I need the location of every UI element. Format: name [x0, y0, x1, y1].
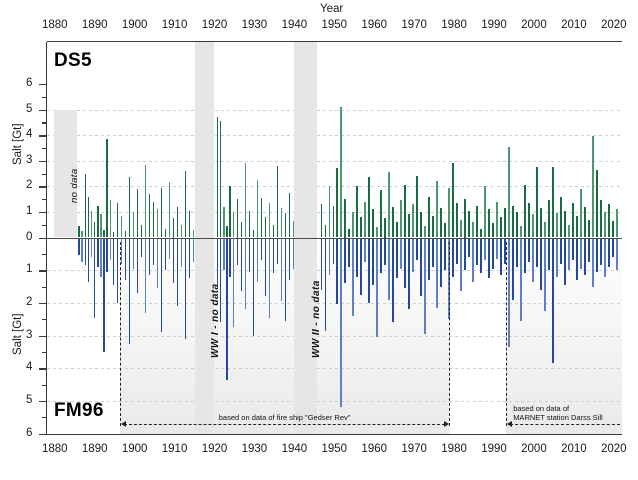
bar-inflow [504, 208, 506, 237]
annotation-text-gedser: based on data of fire ship "Gedser Rev" [219, 413, 351, 422]
bar-outflow [592, 238, 594, 287]
bar-inflow [500, 217, 502, 237]
bar-outflow [584, 238, 586, 276]
bar-inflow [568, 225, 570, 238]
bar-inflow [484, 186, 486, 237]
bar-outflow [281, 238, 283, 302]
bar-inflow [285, 213, 287, 237]
bar-inflow [94, 222, 96, 237]
y-tick-label: 4 [26, 361, 32, 373]
top-axis-title: Year [320, 3, 343, 15]
bar-inflow [91, 211, 93, 238]
annotation-line-2: MARNET station Darss Sill [513, 413, 602, 422]
bar-outflow [568, 238, 570, 271]
bar-outflow [78, 238, 80, 256]
bar-outflow [97, 238, 99, 267]
bar-outflow [560, 238, 562, 264]
bar-outflow [404, 238, 406, 289]
panel-label-ds5: DS5 [54, 50, 92, 72]
y-tick-label: 1 [26, 263, 32, 275]
bar-inflow [480, 229, 482, 238]
x-tick-label-bottom: 2010 [561, 443, 587, 455]
bar-outflow [536, 238, 538, 267]
bar-outflow [540, 238, 542, 290]
bar-inflow [452, 163, 454, 237]
x-tick-label-top: 1890 [82, 19, 108, 31]
gridline-lower [47, 401, 622, 402]
x-tick-label-bottom: 1930 [242, 443, 268, 455]
bar-inflow [329, 186, 331, 237]
bar-inflow [368, 177, 370, 237]
bar-inflow [145, 165, 147, 238]
bar-inflow [226, 226, 228, 238]
bar-inflow [245, 163, 247, 237]
bar-inflow [544, 222, 546, 237]
bar-outflow [552, 238, 554, 364]
bar-inflow [133, 212, 135, 238]
annotation-guide [120, 242, 121, 426]
gridline-upper [47, 110, 622, 111]
bar-outflow [333, 238, 335, 264]
bar-outflow [289, 238, 291, 280]
bar-inflow [185, 171, 187, 238]
chart-root: Year 18801890190019101920193019401950196… [0, 0, 638, 480]
annotation-arrow-line [510, 424, 620, 425]
gridline-lower [47, 303, 622, 304]
bar-outflow [468, 238, 470, 258]
y-tick-label: 2 [26, 179, 32, 191]
bar-outflow [364, 238, 366, 263]
bar-outflow [88, 238, 90, 282]
bar-outflow [226, 238, 228, 380]
bar-inflow [540, 208, 542, 237]
bar-inflow [153, 202, 155, 238]
bar-outflow [380, 238, 382, 274]
bar-inflow [580, 189, 582, 238]
bar-outflow [257, 238, 259, 282]
bar-inflow [161, 188, 163, 238]
bar-outflow [440, 238, 442, 287]
bar-outflow [492, 238, 494, 269]
bar-outflow [117, 238, 119, 303]
bar-outflow [600, 238, 602, 266]
bar-outflow [217, 238, 219, 287]
y-tick-label: 0 [26, 231, 32, 243]
bar-inflow [181, 225, 183, 238]
bar-outflow [133, 238, 135, 269]
bar-outflow [576, 238, 578, 280]
x-tick-label-top: 1950 [321, 19, 347, 31]
bar-inflow [233, 212, 235, 238]
bar-inflow [432, 216, 434, 238]
bar-outflow [129, 238, 131, 344]
bar-outflow [444, 238, 446, 271]
bar-outflow [496, 238, 498, 259]
bar-inflow [420, 212, 422, 238]
bar-outflow [106, 238, 108, 272]
bar-outflow [193, 238, 195, 263]
annotation-arrow-left [121, 421, 126, 427]
bar-outflow [273, 238, 275, 274]
bar-inflow [400, 200, 402, 237]
bar-outflow [416, 238, 418, 261]
bar-inflow [576, 216, 578, 238]
x-tick-label-bottom: 1950 [321, 443, 347, 455]
bar-outflow [161, 238, 163, 333]
annotation-arrow-line [124, 424, 445, 425]
x-tick-label-top: 1880 [42, 19, 68, 31]
bar-outflow [141, 238, 143, 258]
bar-outflow [110, 238, 112, 261]
bar-outflow [464, 238, 466, 271]
bar-outflow [520, 238, 522, 321]
bar-outflow [125, 238, 127, 280]
bar-outflow [516, 238, 518, 267]
zero-line [47, 238, 622, 239]
bar-inflow [384, 218, 386, 237]
bar-inflow [129, 177, 131, 237]
x-tick-label-top: 1940 [282, 19, 308, 31]
bar-outflow [157, 238, 159, 289]
x-tick-label-bottom: 1900 [122, 443, 148, 455]
bar-outflow [412, 238, 414, 272]
bar-inflow [444, 223, 446, 237]
bar-inflow [277, 166, 279, 238]
bar-outflow [400, 238, 402, 269]
x-tick-label-top: 1990 [481, 19, 507, 31]
bar-inflow [596, 170, 598, 238]
bar-inflow [217, 117, 219, 237]
bar-outflow [544, 238, 546, 312]
bar-outflow [396, 238, 398, 279]
bar-inflow [100, 214, 102, 237]
bar-outflow [277, 238, 279, 264]
y-tick-label: 5 [26, 103, 32, 115]
bar-inflow [137, 189, 139, 238]
bar-inflow [229, 186, 231, 237]
bar-inflow [472, 222, 474, 237]
bar-inflow [468, 211, 470, 238]
bar-inflow [333, 206, 335, 238]
y-tick-label: 6 [26, 77, 32, 89]
bar-inflow [376, 227, 378, 237]
bar-inflow [416, 176, 418, 237]
bar-inflow [269, 203, 271, 238]
gridline-lower [47, 270, 622, 271]
bar-outflow [580, 238, 582, 269]
annotation-guide [449, 242, 450, 426]
bar-outflow [452, 238, 454, 277]
x-tick-label-bottom: 1880 [42, 443, 68, 455]
x-tick-label-top: 2000 [521, 19, 547, 31]
bar-outflow [169, 238, 171, 259]
no-data-band-label: no data [69, 168, 80, 203]
bar-inflow [110, 200, 112, 237]
x-tick-label-top: 1960 [361, 19, 387, 31]
bar-inflow [588, 220, 590, 238]
bar-outflow [149, 238, 151, 276]
bar-inflow [592, 136, 594, 237]
bar-inflow [604, 212, 606, 238]
y-tick-label: 3 [26, 329, 32, 341]
bar-inflow [193, 230, 195, 238]
y-axis-title-lower: Salt [Gt] [12, 313, 24, 355]
bar-inflow [372, 209, 374, 237]
bar-inflow [169, 182, 171, 237]
bar-outflow [556, 238, 558, 277]
bar-inflow [360, 217, 362, 237]
bar-inflow [261, 198, 263, 238]
y-tick-label: 2 [26, 296, 32, 308]
plot-area: no dataWW I - no dataWW II - no data bas… [47, 42, 622, 434]
bar-inflow [464, 199, 466, 237]
bar-outflow [325, 238, 327, 331]
bar-inflow [436, 181, 438, 237]
y-tick-label: 1 [26, 205, 32, 217]
bar-inflow [488, 209, 490, 237]
bar-inflow [220, 121, 222, 237]
bar-inflow [157, 209, 159, 237]
x-tick-label-top: 1930 [242, 19, 268, 31]
bar-outflow [241, 238, 243, 292]
bar-inflow [177, 207, 179, 238]
bar-inflow [476, 206, 478, 238]
annotation-line-1: based on data of [513, 404, 602, 413]
bar-inflow [404, 185, 406, 237]
bar-inflow [321, 204, 323, 237]
x-tick-label-bottom: 1960 [361, 443, 387, 455]
bar-inflow [223, 207, 225, 238]
x-tick-label-bottom: 2000 [521, 443, 547, 455]
bar-inflow [340, 107, 342, 237]
bar-outflow [612, 238, 614, 258]
bar-outflow [372, 238, 374, 285]
bar-outflow [94, 238, 96, 318]
bar-outflow [596, 238, 598, 272]
bar-inflow [572, 203, 574, 238]
bar-outflow [524, 238, 526, 274]
bar-inflow [117, 203, 119, 238]
x-tick-label-top: 2010 [561, 19, 587, 31]
bar-inflow [88, 197, 90, 238]
bar-outflow [220, 238, 222, 323]
bar-outflow [321, 238, 323, 290]
bar-outflow [249, 238, 251, 272]
bar-outflow [165, 238, 167, 271]
x-tick-label-bottom: 1970 [401, 443, 427, 455]
bar-inflow [424, 226, 426, 238]
x-tick-label-bottom: 1980 [441, 443, 467, 455]
bar-inflow [165, 229, 167, 238]
bar-inflow [456, 203, 458, 238]
bar-inflow [149, 194, 151, 237]
bar-outflow [340, 238, 342, 408]
bar-outflow [616, 238, 618, 271]
bar-inflow [97, 206, 99, 238]
bar-outflow [408, 238, 410, 310]
bar-inflow [364, 202, 366, 238]
bar-inflow [428, 197, 430, 238]
bar-outflow [181, 238, 183, 267]
bar-outflow [348, 238, 350, 267]
bar-outflow [456, 238, 458, 264]
bar-outflow [344, 238, 346, 284]
bar-inflow [520, 226, 522, 238]
bar-inflow [237, 199, 239, 237]
bar-inflow [265, 217, 267, 237]
bar-inflow [516, 212, 518, 238]
bar-outflow [424, 238, 426, 334]
x-tick-label-bottom: 2020 [601, 443, 627, 455]
bar-outflow [360, 238, 362, 295]
bar-outflow [368, 238, 370, 303]
bar-inflow [560, 197, 562, 238]
x-tick-label-top: 1910 [162, 19, 188, 31]
bar-inflow [396, 222, 398, 237]
bar-outflow [173, 238, 175, 284]
bar-inflow [608, 204, 610, 237]
bar-inflow [392, 207, 394, 238]
bar-outflow [153, 238, 155, 266]
bar-outflow [265, 238, 267, 297]
bar-inflow [103, 230, 105, 238]
bar-inflow [325, 225, 327, 238]
bar-inflow [348, 229, 350, 238]
bar-inflow [612, 221, 614, 238]
bar-outflow [484, 238, 486, 261]
x-tick-label-bottom: 1990 [481, 443, 507, 455]
annotation-arrow-left [507, 421, 512, 427]
bar-outflow [261, 238, 263, 261]
y-axis-title-upper: Salt [Gt] [12, 123, 24, 165]
bar-outflow [253, 238, 255, 336]
x-tick-label-bottom: 1940 [282, 443, 308, 455]
bar-outflow [376, 238, 378, 338]
bar-outflow [548, 238, 550, 271]
bar-outflow [137, 238, 139, 294]
bar-outflow [432, 238, 434, 267]
bar-inflow [241, 222, 243, 237]
bar-outflow [384, 238, 386, 266]
bar-outflow [480, 238, 482, 274]
bar-outflow [420, 238, 422, 297]
panel-label-fm96: FM96 [54, 400, 104, 422]
bar-outflow [285, 238, 287, 321]
bar-inflow [141, 225, 143, 238]
bar-outflow [588, 238, 590, 263]
bar-outflow [528, 238, 530, 263]
x-tick-label-bottom: 1920 [202, 443, 228, 455]
bar-inflow [532, 214, 534, 237]
x-tick-label-top: 2020 [601, 19, 627, 31]
bar-inflow [408, 214, 410, 237]
gridline-lower [47, 368, 622, 369]
bar-inflow [352, 212, 354, 238]
bar-outflow [508, 238, 510, 347]
bar-outflow [356, 238, 358, 277]
annotation-text-marnet: based on data ofMARNET station Darss Sil… [513, 404, 602, 422]
y-tick-label: 5 [26, 394, 32, 406]
bar-outflow [245, 238, 247, 310]
bar-inflow [388, 172, 390, 237]
bar-inflow [412, 204, 414, 237]
bar-outflow [388, 238, 390, 300]
bar-inflow [85, 174, 87, 238]
bar-outflow [229, 238, 231, 277]
bar-inflow [616, 209, 618, 237]
bar-outflow [177, 238, 179, 307]
bar-inflow [448, 188, 450, 238]
bar-outflow [460, 238, 462, 292]
bar-inflow [336, 168, 338, 237]
bar-inflow [78, 226, 80, 238]
bar-inflow [189, 211, 191, 238]
bar-outflow [81, 238, 83, 263]
gridline-lower [47, 336, 622, 337]
bar-inflow [121, 216, 123, 238]
bar-inflow [528, 203, 530, 238]
no-data-band-label: WW II - no data [311, 281, 322, 359]
bar-outflow [233, 238, 235, 328]
y-tick-label: 4 [26, 128, 32, 140]
bar-outflow [91, 238, 93, 258]
y-tick-label: 6 [26, 427, 32, 439]
x-tick-label-bottom: 1910 [162, 443, 188, 455]
x-tick-label-top: 1900 [122, 19, 148, 31]
bar-outflow [113, 238, 115, 285]
gridline-upper [47, 135, 622, 136]
bar-inflow [508, 147, 510, 238]
annotation-arrow-right [444, 421, 449, 427]
bar-inflow [600, 200, 602, 237]
bar-inflow [536, 167, 538, 237]
bar-inflow [273, 225, 275, 238]
bar-outflow [237, 238, 239, 266]
y-tick-label: 3 [26, 154, 32, 166]
bar-inflow [440, 208, 442, 237]
bar-inflow [552, 167, 554, 237]
bar-outflow [572, 238, 574, 261]
bar-inflow [253, 230, 255, 238]
bar-inflow [344, 199, 346, 237]
annotation-guide [506, 242, 507, 426]
bar-outflow [100, 238, 102, 277]
bar-outflow [189, 238, 191, 279]
bar-inflow [512, 206, 514, 238]
x-tick-label-top: 1970 [401, 19, 427, 31]
bar-outflow [564, 238, 566, 285]
bar-outflow [352, 238, 354, 316]
bar-inflow [106, 139, 108, 237]
bar-outflow [472, 238, 474, 282]
bar-inflow [380, 190, 382, 237]
bar-outflow [329, 238, 331, 276]
x-tick-label-bottom: 1890 [82, 443, 108, 455]
bar-inflow [584, 207, 586, 238]
bar-inflow [173, 218, 175, 237]
bar-outflow [488, 238, 490, 279]
x-tick-label-top: 1920 [202, 19, 228, 31]
gridline-upper [47, 161, 622, 162]
bar-outflow [428, 238, 430, 280]
bar-outflow [145, 238, 147, 313]
bar-inflow [548, 200, 550, 237]
bar-outflow [185, 238, 187, 339]
bar-outflow [103, 238, 105, 352]
bar-outflow [293, 238, 295, 269]
x-tick-label-top: 1980 [441, 19, 467, 31]
bar-inflow [556, 213, 558, 237]
